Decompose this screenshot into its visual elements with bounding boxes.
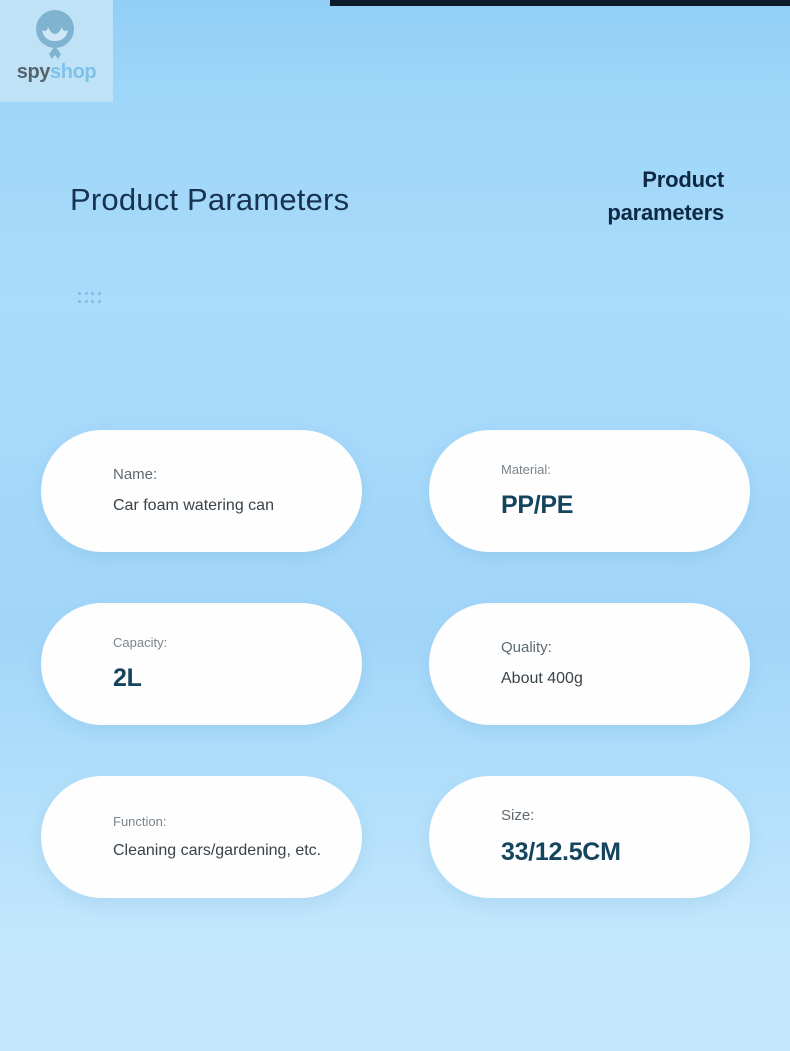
parameter-value: PP/PE [501, 490, 750, 520]
page-subtitle: Product parameters [444, 163, 724, 229]
brand-wordmark: spyshop [0, 62, 113, 82]
brand-name-shop: shop [50, 61, 96, 83]
parameter-card-function: Function: Cleaning cars/gardening, etc. [41, 776, 362, 898]
page-subtitle-line2: parameters [444, 196, 724, 229]
parameter-row: Name: Car foam watering can Material: PP… [0, 430, 790, 603]
parameter-card-grid: Name: Car foam watering can Material: PP… [0, 430, 790, 949]
product-parameters-page: spyshop Product Parameters Product param… [0, 0, 790, 1051]
brand-name-spy: spy [17, 61, 50, 83]
brand-logo-panel[interactable]: spyshop [0, 0, 113, 102]
dot [85, 292, 88, 295]
dot [98, 292, 101, 295]
parameter-card-capacity: Capacity: 2L [41, 603, 362, 725]
dot [85, 300, 88, 303]
parameter-card-material: Material: PP/PE [429, 430, 750, 552]
page-title: Product Parameters [70, 182, 349, 218]
page-subtitle-line1: Product [444, 163, 724, 196]
parameter-label: Capacity: [113, 635, 362, 651]
parameter-row: Function: Cleaning cars/gardening, etc. … [0, 776, 790, 949]
top-dark-strip [330, 0, 790, 6]
parameter-card-quality: Quality: About 400g [429, 603, 750, 725]
spy-mascot-icon [28, 8, 82, 60]
dot [98, 300, 101, 303]
parameter-label: Size: [501, 807, 750, 825]
parameter-label: Function: [113, 814, 362, 830]
parameter-label: Name: [113, 466, 362, 484]
parameter-value: Car foam watering can [113, 496, 362, 515]
parameter-label: Material: [501, 462, 750, 478]
dot [91, 292, 94, 295]
dot [91, 300, 94, 303]
dot-grid-icon [78, 292, 102, 306]
parameter-label: Quality: [501, 639, 750, 657]
parameter-value: Cleaning cars/gardening, etc. [113, 841, 362, 860]
parameter-card-name: Name: Car foam watering can [41, 430, 362, 552]
parameter-value: 2L [113, 663, 362, 693]
parameter-value: About 400g [501, 669, 750, 688]
parameter-row: Capacity: 2L Quality: About 400g [0, 603, 790, 776]
parameter-value: 33/12.5CM [501, 837, 750, 867]
dot [78, 292, 81, 295]
dot [78, 300, 81, 303]
parameter-card-size: Size: 33/12.5CM [429, 776, 750, 898]
